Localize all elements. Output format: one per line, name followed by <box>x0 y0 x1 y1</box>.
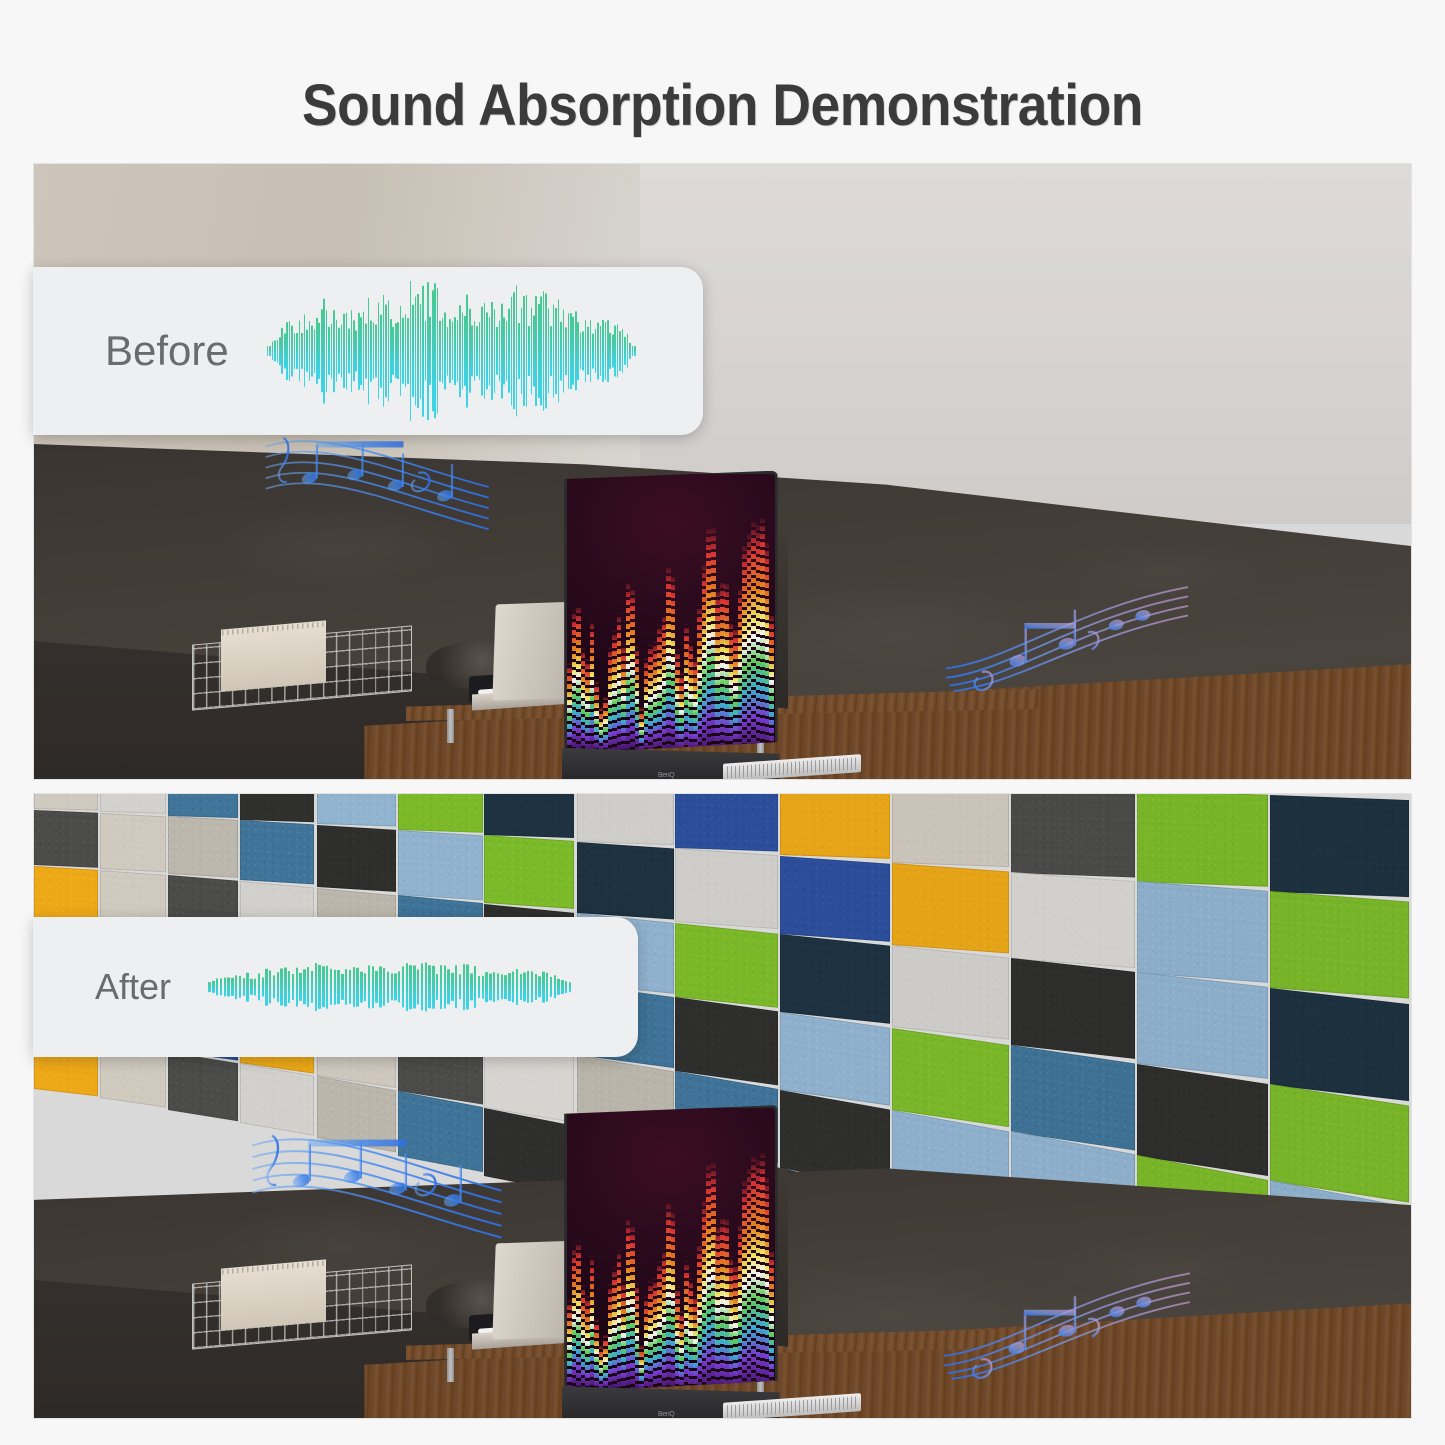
waveform-bar <box>575 311 577 390</box>
waveform-bar <box>409 965 411 1009</box>
waveform-bar <box>231 978 233 996</box>
acoustic-panel <box>892 793 1009 868</box>
acoustic-panel <box>100 813 166 872</box>
waveform-bar <box>413 965 415 1008</box>
waveform-bar <box>368 965 370 1008</box>
waveform-bar <box>274 340 276 361</box>
waveform-bar <box>250 979 252 995</box>
waveform-bar <box>520 974 522 1000</box>
waveform-bar <box>437 288 439 414</box>
waveform-bar <box>353 967 355 1007</box>
waveform-bar <box>326 310 328 392</box>
waveform-bar <box>546 973 548 1002</box>
waveform-bar <box>463 964 465 1010</box>
waveform-bar <box>597 323 599 380</box>
acoustic-panel <box>1270 891 1409 999</box>
acoustic-panel <box>168 1052 238 1121</box>
acoustic-panel <box>34 866 98 924</box>
acoustic-panel <box>892 945 1009 1040</box>
waveform-bar <box>422 286 424 417</box>
waveform-bar <box>216 978 218 995</box>
waveform-bar <box>542 972 544 1003</box>
waveform-bar <box>353 320 355 381</box>
waveform-bar <box>455 965 457 1008</box>
page-root: Sound Absorption Demonstration BenQ <box>0 0 1445 1445</box>
waveform-bar <box>348 328 350 373</box>
waveform-bar <box>407 318 409 384</box>
waveform-bar <box>239 976 241 998</box>
waveform-bar <box>277 340 279 363</box>
acoustic-panel <box>34 810 98 867</box>
waveform-bar <box>383 968 385 1006</box>
waveform-bar <box>267 346 269 356</box>
acoustic-panel <box>1137 881 1268 983</box>
waveform-bar <box>421 963 423 1010</box>
waveform-bar <box>518 323 520 379</box>
waveform-bar <box>614 325 616 376</box>
waveform-bar <box>523 972 525 1001</box>
waveform-bar <box>425 962 427 1011</box>
waveform-bar <box>531 308 533 395</box>
waveform-bar <box>478 976 480 998</box>
waveform-bar <box>436 974 438 1000</box>
waveform-bar <box>568 313 570 389</box>
waveform-bar <box>432 290 434 411</box>
waveform-bar <box>338 328 340 374</box>
equalizer-visualization <box>567 474 774 751</box>
waveform-bar <box>600 326 602 376</box>
waveform-bar <box>624 337 626 365</box>
acoustic-panel <box>675 848 778 929</box>
acoustic-panel <box>398 1091 483 1172</box>
waveform-bar <box>619 331 621 371</box>
waveform-bar <box>469 309 471 393</box>
waveform-bar <box>454 317 456 385</box>
waveform-bar <box>296 333 298 369</box>
waveform-bar <box>634 346 636 356</box>
waveform-bar <box>321 309 323 392</box>
waveform-bar <box>429 317 431 385</box>
waveform-bar <box>580 332 582 369</box>
waveform-bar <box>459 974 461 999</box>
acoustic-panel <box>780 793 890 859</box>
waveform-bar <box>398 971 400 1002</box>
waveform-bar <box>417 294 419 408</box>
waveform-bar <box>565 981 567 993</box>
waveform-bar <box>265 969 267 1006</box>
waveform-bar <box>572 317 574 385</box>
waveform-bar <box>491 302 493 400</box>
waveform-bar <box>364 973 366 1001</box>
waveform-bar <box>334 970 336 1005</box>
monitor-screen <box>564 1105 777 1392</box>
waveform-bar <box>486 312 488 389</box>
waveform-bar <box>595 329 597 373</box>
waveform-bar <box>554 975 556 998</box>
waveform-bar <box>390 319 392 383</box>
equalizer-bar <box>769 1244 774 1389</box>
acoustic-panel <box>675 923 778 1008</box>
waveform-bar <box>516 285 518 416</box>
after-photo: BenQ <box>33 793 1412 1419</box>
waveform-bar <box>632 346 634 356</box>
monitor-screen <box>564 471 777 754</box>
waveform-bar <box>563 310 565 393</box>
photo-divider <box>0 780 1445 793</box>
waveform-bar <box>570 313 572 389</box>
waveform-bar <box>269 346 271 356</box>
waveform-bar <box>356 968 358 1007</box>
waveform-bar <box>281 328 283 374</box>
waveform-bar <box>333 310 335 392</box>
waveform-bar <box>284 967 286 1006</box>
waveform-bar <box>466 295 468 408</box>
waveform-bar <box>395 323 397 378</box>
waveform-bar <box>550 326 552 376</box>
after-label: After <box>95 966 171 1008</box>
waveform-bar <box>496 327 498 375</box>
acoustic-panel <box>398 830 483 900</box>
waveform-bar <box>442 318 444 383</box>
acoustic-panel <box>484 1108 574 1193</box>
waveform-bar <box>388 301 390 402</box>
waveform-bar <box>383 295 385 407</box>
acoustic-panel <box>317 825 396 892</box>
waveform-bar <box>538 304 540 398</box>
waveform-bar <box>284 333 286 368</box>
waveform-bar <box>345 969 347 1005</box>
waveform-bar <box>440 965 442 1009</box>
waveform-bar <box>341 974 343 1000</box>
waveform-bar <box>512 972 514 1003</box>
before-waveform-card: Before <box>33 267 703 435</box>
waveform-bar <box>526 295 528 407</box>
waveform-bar <box>508 973 510 1001</box>
waveform-bar <box>355 330 357 371</box>
waveform-bar <box>375 971 377 1003</box>
waveform-bar <box>457 320 459 382</box>
waveform-bar <box>224 978 226 997</box>
waveform-bar <box>587 327 589 375</box>
waveform-bar <box>273 975 275 998</box>
acoustic-panel <box>892 1028 1009 1127</box>
waveform-bar <box>474 321 476 381</box>
waveform-bar <box>309 321 311 381</box>
acoustic-panel <box>1137 793 1268 887</box>
waveform-bar <box>336 320 338 382</box>
acoustic-panel <box>1270 795 1409 897</box>
waveform-bar <box>432 966 434 1009</box>
waveform-bar <box>326 966 328 1009</box>
waveform-bar <box>494 309 496 393</box>
waveform-bar <box>351 310 353 392</box>
waveform-bar <box>585 320 587 382</box>
waveform-bar <box>405 314 407 387</box>
waveform-bar <box>629 343 631 359</box>
waveform-bar <box>400 306 402 396</box>
waveform-bar <box>269 970 271 1003</box>
waveform-bar <box>543 291 545 411</box>
waveform-bar <box>387 972 389 1003</box>
waveform-bar <box>318 323 320 379</box>
waveform-bar <box>373 322 375 379</box>
after-waveform <box>171 917 638 1057</box>
waveform-bar <box>464 316 466 386</box>
waveform-bar <box>503 318 505 385</box>
waveform-bar <box>501 304 503 399</box>
acoustic-panel <box>100 793 166 814</box>
waveform-bar <box>318 965 320 1009</box>
acoustic-panel <box>317 1076 396 1152</box>
waveform-bar <box>513 292 515 409</box>
waveform-bar <box>291 326 293 377</box>
waveform-bar <box>617 324 619 377</box>
riser-leg <box>447 1348 454 1382</box>
waveform-bar <box>451 973 453 1001</box>
speaker-panel <box>777 1168 788 1347</box>
waveform-bar <box>447 969 449 1004</box>
waveform-bar <box>501 974 503 999</box>
waveform-bar <box>363 311 365 390</box>
acoustic-panel <box>240 820 314 884</box>
waveform-bar <box>417 969 419 1004</box>
waveform-bar <box>380 315 382 388</box>
monitor-brand-logo: BenQ <box>658 772 674 779</box>
waveform-bar <box>425 321 427 381</box>
waveform-bar <box>306 330 308 372</box>
equalizer-bar <box>769 608 774 751</box>
acoustic-panel <box>577 842 674 919</box>
waveform-bar <box>459 305 461 397</box>
waveform-bar <box>474 966 476 1008</box>
waveform-bar <box>627 334 629 368</box>
waveform-bar <box>288 971 290 1003</box>
waveform-bar <box>558 299 560 402</box>
acoustic-panel <box>484 793 574 838</box>
waveform-bar <box>307 967 309 1007</box>
riser-leg <box>447 709 454 743</box>
waveform-bar <box>235 975 237 999</box>
waveform-bar <box>311 971 313 1003</box>
waveform-bar <box>323 299 325 404</box>
waveform-bar <box>528 326 530 376</box>
waveform-bar <box>303 969 305 1004</box>
waveform-bar <box>489 973 491 1000</box>
acoustic-panel <box>577 793 674 845</box>
acoustic-panel <box>675 997 778 1086</box>
curved-monitor: BenQ <box>564 471 777 754</box>
waveform-bar <box>466 965 468 1010</box>
waveform-bar <box>533 315 535 386</box>
before-waveform <box>229 267 703 435</box>
waveform-bar <box>582 332 584 371</box>
waveform-bar <box>484 303 486 399</box>
waveform-bar <box>479 322 481 380</box>
acoustic-panel <box>780 856 890 942</box>
curved-monitor: BenQ <box>564 1105 777 1392</box>
waveform-bar <box>243 978 245 996</box>
waveform-bar <box>397 322 399 379</box>
acoustic-panel <box>675 793 778 852</box>
waveform-bar <box>481 307 483 396</box>
waveform-bar <box>428 965 430 1008</box>
waveform-bar <box>476 326 478 376</box>
equalizer-visualization <box>567 1108 774 1389</box>
monitor-brand-logo: BenQ <box>658 1411 674 1418</box>
waveform-bar <box>402 966 404 1007</box>
waveform-bar <box>482 976 484 999</box>
acoustic-panel <box>892 863 1009 954</box>
waveform-bar <box>504 975 506 999</box>
page-title: Sound Absorption Demonstration <box>58 72 1387 139</box>
acoustic-panel <box>317 793 396 827</box>
acoustic-panel <box>1270 988 1409 1101</box>
waveform-bar <box>420 304 422 399</box>
waveform-bar <box>415 297 417 406</box>
waveform-bar <box>299 320 301 381</box>
waveform-bar <box>299 973 301 1001</box>
waveform-bar <box>227 977 229 996</box>
waveform-bar <box>331 324 333 379</box>
waveform-bar <box>296 968 298 1007</box>
acoustic-panel <box>1137 972 1268 1079</box>
waveform-bar <box>346 313 348 390</box>
waveform-bar <box>561 980 563 994</box>
waveform-bar <box>444 965 446 1008</box>
waveform-bar <box>212 981 214 993</box>
waveform-bar <box>555 308 557 394</box>
waveform-bar <box>609 333 611 369</box>
acoustic-panel <box>34 793 98 810</box>
waveform-bar <box>592 334 594 369</box>
waveform-bar <box>279 337 281 365</box>
waveform-bar <box>208 982 210 992</box>
speaker-panel <box>777 532 788 709</box>
waveform-bar <box>548 308 550 393</box>
acoustic-panel <box>398 793 483 832</box>
waveform-bar <box>535 974 537 1000</box>
acoustic-panel <box>240 1063 314 1136</box>
waveform-bar <box>246 973 248 1002</box>
waveform-bar <box>565 327 567 375</box>
waveform-bar <box>511 297 513 406</box>
waveform-bar <box>540 296 542 405</box>
waveform-bar <box>447 327 449 376</box>
acoustic-panel <box>168 793 238 817</box>
waveform-bar <box>392 327 394 375</box>
waveform-bar <box>531 971 533 1002</box>
waveform-bar <box>292 974 294 1000</box>
waveform-bar <box>343 314 345 388</box>
waveform-bar <box>316 318 318 384</box>
after-waveform-card: After <box>33 917 638 1057</box>
waveform-bar <box>523 296 525 406</box>
waveform-bar <box>289 321 291 381</box>
waveform-bar <box>385 304 387 397</box>
waveform-bar <box>410 281 412 421</box>
waveform-bar <box>493 972 495 1002</box>
waveform-bar <box>337 970 339 1004</box>
waveform-bar <box>607 320 609 382</box>
acoustic-panel <box>240 793 314 822</box>
waveform-bar <box>499 321 501 382</box>
waveform-bar <box>449 319 451 383</box>
acoustic-panel <box>780 1012 890 1106</box>
waveform-bar <box>394 974 396 1001</box>
waveform-bar <box>557 979 559 995</box>
waveform-bar <box>471 325 473 376</box>
waveform-bar <box>427 282 429 420</box>
waveform-bar <box>322 966 324 1007</box>
waveform-bar <box>521 308 523 394</box>
before-label: Before <box>105 327 229 375</box>
waveform-bar <box>370 321 372 382</box>
waveform-bar <box>391 973 393 1000</box>
waveform-bar <box>527 971 529 1003</box>
waveform-bar <box>602 320 604 382</box>
waveform-bar <box>412 305 414 397</box>
waveform-bar <box>560 322 562 381</box>
waveform-bar <box>439 321 441 382</box>
waveform-bar <box>368 298 370 405</box>
waveform-bar <box>301 333 303 369</box>
waveform-bar <box>365 324 367 379</box>
acoustic-panel <box>780 934 890 1024</box>
waveform-bar <box>402 318 404 384</box>
acoustic-panel <box>1011 793 1135 877</box>
waveform-bar <box>330 969 332 1005</box>
waveform-bar <box>489 317 491 386</box>
waveform-bar <box>314 329 316 373</box>
waveform-bar <box>375 324 377 377</box>
waveform-bar <box>349 970 351 1004</box>
waveform-bar <box>294 333 296 369</box>
waveform-bar <box>304 314 306 387</box>
waveform-bar <box>360 972 362 1003</box>
waveform-bar <box>506 321 508 381</box>
waveform-bar <box>535 296 537 406</box>
waveform-bar <box>280 969 282 1006</box>
waveform-bar <box>612 334 614 367</box>
waveform-bar <box>372 966 374 1008</box>
waveform-bar <box>328 327 330 375</box>
waveform-bar <box>220 978 222 995</box>
acoustic-panel <box>484 835 574 908</box>
waveform-bar <box>379 966 381 1007</box>
waveform-bar <box>553 304 555 397</box>
waveform-bar <box>452 321 454 380</box>
waveform-bar <box>444 313 446 390</box>
waveform-bar <box>277 972 279 1002</box>
waveform-bar <box>550 977 552 997</box>
waveform-bar <box>286 322 288 380</box>
waveform-bar <box>577 322 579 380</box>
acoustic-panel <box>168 816 238 878</box>
waveform-bar <box>590 320 592 382</box>
waveform-bar <box>516 969 518 1005</box>
acoustic-panel <box>1011 958 1135 1059</box>
waveform-bar <box>462 313 464 390</box>
waveform-bar <box>262 978 264 997</box>
waveform-bar <box>605 322 607 380</box>
waveform-bar <box>485 972 487 1002</box>
waveform-bar <box>569 982 571 992</box>
notepad <box>221 1259 326 1330</box>
waveform-bar <box>358 313 360 390</box>
waveform-bar <box>545 293 547 408</box>
waveform-bar <box>497 973 499 1000</box>
waveform-bar <box>315 963 317 1011</box>
